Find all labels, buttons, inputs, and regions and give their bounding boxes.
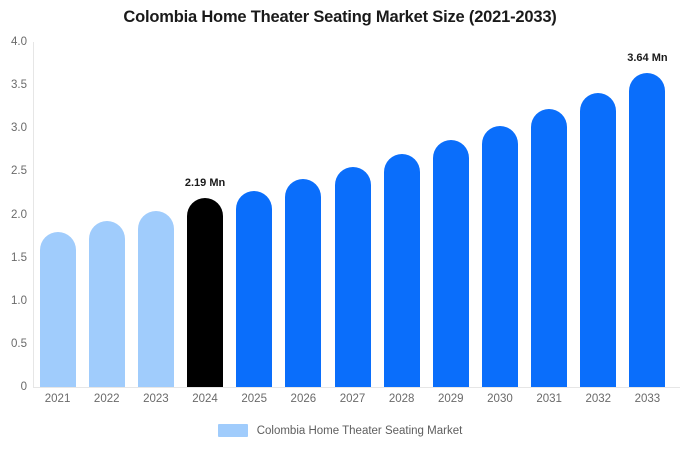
y-axis-tick-label: 2.0: [0, 209, 27, 221]
y-axis-tick-label: 0: [0, 381, 27, 393]
bar-slot: [89, 42, 125, 387]
y-axis-tick-label: 1.0: [0, 295, 27, 307]
bar-slot: [138, 42, 174, 387]
bar-value-label: 3.64 Mn: [627, 52, 667, 64]
bar-2028[interactable]: [384, 154, 420, 387]
bar-2021[interactable]: [40, 232, 76, 387]
bar-slot: [40, 42, 76, 387]
x-axis-tick-label: 2033: [617, 393, 677, 405]
chart-title: Colombia Home Theater Seating Market Siz…: [0, 8, 680, 27]
bar-2032[interactable]: [580, 93, 616, 387]
y-axis-tick-label: 4.0: [0, 36, 27, 48]
bar-2024[interactable]: [187, 198, 223, 387]
bar-2026[interactable]: [285, 179, 321, 387]
bar-2022[interactable]: [89, 221, 125, 387]
bar-2029[interactable]: [433, 140, 469, 387]
bar-slot: [531, 42, 567, 387]
bar-2033[interactable]: [629, 73, 665, 387]
legend-label[interactable]: Colombia Home Theater Seating Market: [257, 425, 463, 437]
bar-2030[interactable]: [482, 126, 518, 387]
bar-2027[interactable]: [335, 167, 371, 387]
y-axis-tick-label: 0.5: [0, 338, 27, 350]
chart-legend: Colombia Home Theater Seating Market: [0, 424, 680, 437]
bar-slot: [285, 42, 321, 387]
bar-2023[interactable]: [138, 211, 174, 387]
bar-chart: Colombia Home Theater Seating Market Siz…: [0, 0, 680, 450]
bar-slot: 3.64 Mn: [629, 42, 665, 387]
y-axis-tick-label: 3.5: [0, 79, 27, 91]
bar-2031[interactable]: [531, 109, 567, 387]
bar-slot: [236, 42, 272, 387]
bar-slot: [580, 42, 616, 387]
y-axis-tick-label: 2.5: [0, 165, 27, 177]
legend-swatch: [218, 424, 248, 437]
bar-slot: [433, 42, 469, 387]
bar-slot: [384, 42, 420, 387]
x-axis-line: [33, 387, 680, 388]
plot-area: 2.19 Mn3.64 Mn: [33, 42, 680, 387]
bar-slot: [335, 42, 371, 387]
y-axis-tick-label: 1.5: [0, 252, 27, 264]
bar-slot: [482, 42, 518, 387]
bar-value-label: 2.19 Mn: [185, 177, 225, 189]
y-axis-tick-label: 3.0: [0, 122, 27, 134]
bar-2025[interactable]: [236, 191, 272, 387]
bar-slot: 2.19 Mn: [187, 42, 223, 387]
